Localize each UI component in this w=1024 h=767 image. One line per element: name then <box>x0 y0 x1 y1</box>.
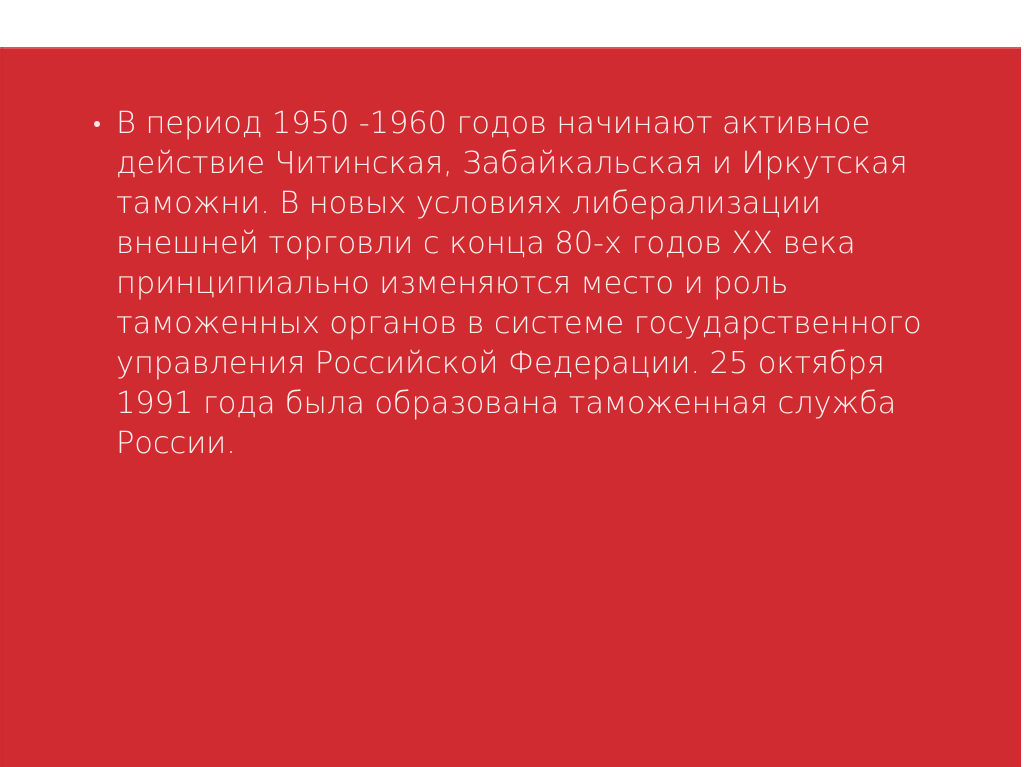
body-paragraph: В период 1950 -1960 годов начинают актив… <box>116 104 935 464</box>
list-item: В период 1950 -1960 годов начинают актив… <box>90 104 935 464</box>
left-edge-shade <box>2 47 3 767</box>
presentation-slide: В период 1950 -1960 годов начинают актив… <box>0 0 1024 767</box>
bullet-point-icon <box>94 121 100 127</box>
slide-header-band <box>0 0 1024 47</box>
slide-content: В период 1950 -1960 годов начинают актив… <box>90 104 935 464</box>
